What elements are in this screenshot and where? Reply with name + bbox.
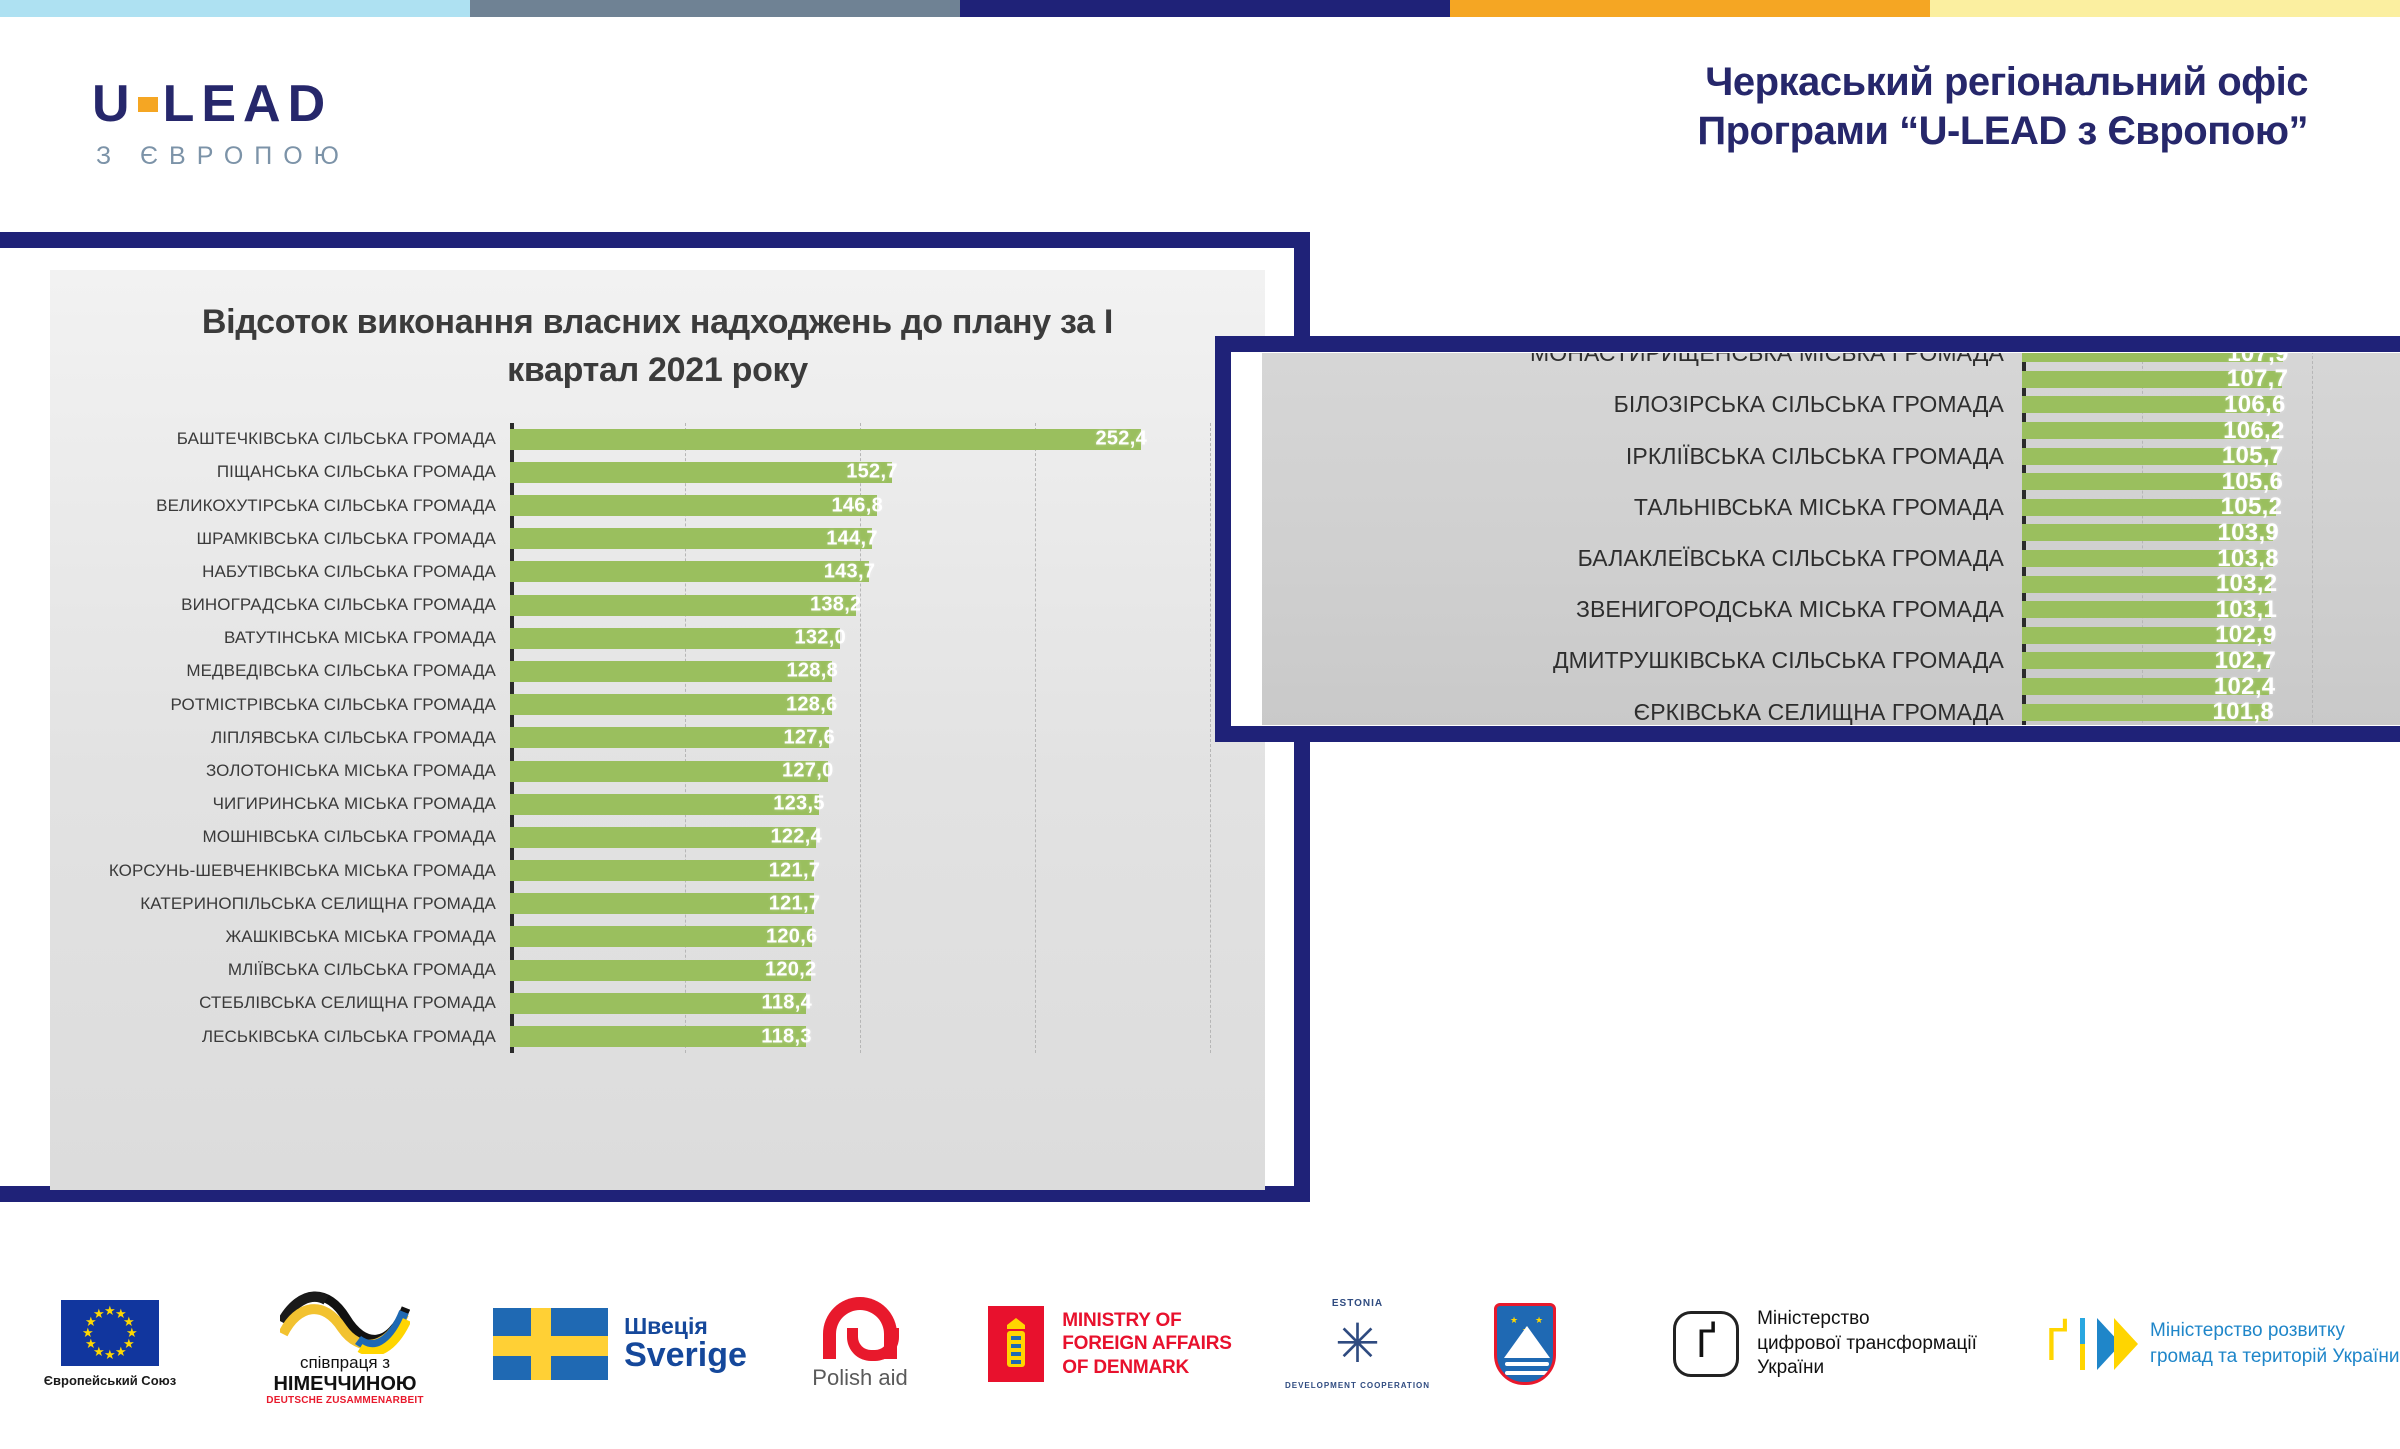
bar-category-label: МЛІЇВСЬКА СІЛЬСЬКА ГРОМАДА: [50, 960, 510, 980]
eu-flag-icon: ★★★★★★★★★★★★: [61, 1300, 159, 1366]
bar-category-label: ІРКЛІЇВСЬКА СІЛЬСЬКА ГРОМАДА: [1262, 443, 2022, 470]
bar-category-label: ШРАМКІВСЬКА СІЛЬСЬКА ГРОМАДА: [50, 529, 510, 549]
bar-value-label: 103,2: [2216, 570, 2278, 598]
bar-value-label: 128,8: [786, 660, 838, 683]
bar-track: 152,7: [510, 462, 1265, 483]
bar-track: 128,8: [510, 661, 1265, 682]
bar-track: 121,7: [510, 860, 1265, 881]
bar-track: 143,7: [510, 561, 1265, 582]
bar-track: 107,7: [2022, 371, 2400, 388]
bar-value-label: 144,7: [826, 527, 878, 550]
bar: 105,7: [2022, 448, 2277, 465]
bar-track: 105,7: [2022, 448, 2400, 465]
bar-category-label: МЕДВЕДІВСЬКА СІЛЬСЬКА ГРОМАДА: [50, 661, 510, 681]
chart-bar-row: ЖАШКІВСЬКА МІСЬКА ГРОМАДА120,6: [50, 920, 1265, 953]
bar-category-label: КОРСУНЬ-ШЕВЧЕНКІВСЬКА МІСЬКА ГРОМАДА: [50, 861, 510, 881]
bar: 102,9: [2022, 627, 2271, 644]
bar-category-label: КАТЕРИНОПІЛЬСЬКА СЕЛИЩНА ГРОМАДА: [50, 894, 510, 914]
top-color-strip: [0, 0, 2400, 17]
bar-track: 122,4: [510, 827, 1265, 848]
chart-bar-row: РОТМІСТРІВСЬКА СІЛЬСЬКА ГРОМАДА128,6: [50, 688, 1265, 721]
chart-bar-row: 103,2: [1262, 571, 2400, 597]
bar-category-label: БІЛОЗІРСЬКА СІЛЬСЬКА ГРОМАДА: [1262, 391, 2022, 418]
header-title-line2: Програми “U-LEAD з Європою”: [1697, 107, 2308, 156]
bar: 152,7: [510, 462, 892, 483]
bar-track: 138,2: [510, 595, 1265, 616]
segment-orange: [1450, 0, 1930, 17]
chart-bar-row: МОШНІВСЬКА СІЛЬСЬКА ГРОМАДА122,4: [50, 821, 1265, 854]
bar: 101,8: [2022, 704, 2268, 721]
chart-bar-row: ЗОЛОТОНІСЬКА МІСЬКА ГРОМАДА127,0: [50, 754, 1265, 787]
bar-value-label: 120,2: [765, 959, 817, 982]
bar-category-label: НАБУТІВСЬКА СІЛЬСЬКА ГРОМАДА: [50, 562, 510, 582]
chart-bar-row: ЄРКІВСЬКА СЕЛИЩНА ГРОМАДА101,8: [1262, 699, 2400, 725]
chart-bar-row: СТЕБЛІВСЬКА СЕЛИЩНА ГРОМАДА118,4: [50, 987, 1265, 1020]
bar-category-label: ЗОЛОТОНІСЬКА МІСЬКА ГРОМАДА: [50, 761, 510, 781]
chart-bar-row: КОРСУНЬ-ШЕВЧЕНКІВСЬКА МІСЬКА ГРОМАДА121,…: [50, 854, 1265, 887]
bar: 106,2: [2022, 422, 2279, 439]
chart-bar-row: ВИНОГРАДСЬКА СІЛЬСЬКА ГРОМАДА138,2: [50, 588, 1265, 621]
bar: 146,8: [510, 495, 877, 516]
mintrans-line3: України: [1757, 1356, 1977, 1381]
sweden-caption-sv: Sverige: [624, 1338, 747, 1374]
estonia-caption-top: ESTONIA: [1332, 1298, 1383, 1309]
bar-track: 118,3: [510, 1026, 1265, 1047]
bar-category-label: ЗВЕНИГОРОДСЬКА МІСЬКА ГРОМАДА: [1262, 596, 2022, 623]
germany-caption-line2: НІМЕЧЧИНОЮ: [273, 1373, 416, 1395]
chart-title: Відсоток виконання власних надходжень до…: [50, 270, 1265, 395]
bar-category-label: ВЕЛИКОХУТІРСЬКА СІЛЬСЬКА ГРОМАДА: [50, 496, 510, 516]
bar-value-label: 138,2: [810, 594, 862, 617]
bar-value-label: 103,8: [2217, 545, 2279, 573]
bar-track: 103,2: [2022, 576, 2400, 593]
logo-word-lead: LEAD: [163, 75, 333, 133]
overlay-plot-area: МОНАСТИРИЩЕНСЬКА МІСЬКА ГРОМАДА107,9107,…: [1262, 353, 2400, 725]
bar-category-label: РОТМІСТРІВСЬКА СІЛЬСЬКА ГРОМАДА: [50, 695, 510, 715]
chart-bar-row: МЕДВЕДІВСЬКА СІЛЬСЬКА ГРОМАДА128,8: [50, 655, 1265, 688]
chart-bar-row: 102,9: [1262, 623, 2400, 649]
sweden-flag-icon: [493, 1308, 608, 1380]
bar-value-label: 101,4: [2211, 724, 2273, 725]
denmark-caption-line3: OF DENMARK: [1062, 1356, 1231, 1379]
bar: 144,7: [510, 528, 872, 549]
bar-track: 144,7: [510, 528, 1265, 549]
bar: 121,7: [510, 893, 814, 914]
bar-track: 252,4: [510, 429, 1265, 450]
ukraine-trident-box-icon: Ґ: [1673, 1311, 1739, 1377]
bar-value-label: 132,0: [794, 627, 846, 650]
bar-category-label: СТЕБЛІВСЬКА СЕЛИЩНА ГРОМАДА: [50, 993, 510, 1013]
bar-track: 101,8: [2022, 704, 2400, 721]
bar-track: 103,9: [2022, 524, 2400, 541]
bar-track: 127,0: [510, 761, 1265, 782]
segment-lightblue: [0, 0, 470, 17]
bar-category-label: ТАЛЬНІВСЬКА МІСЬКА ГРОМАДА: [1262, 494, 2022, 521]
bar-track: 127,6: [510, 727, 1265, 748]
bar-value-label: 102,7: [2215, 647, 2277, 675]
bar-track: 118,4: [510, 993, 1265, 1014]
bar: 252,4: [510, 429, 1141, 450]
eu-caption: Європейський Союз: [44, 1373, 176, 1388]
bar-value-label: 106,6: [2224, 391, 2286, 419]
bar-track: 121,7: [510, 893, 1265, 914]
germany-caption-line3: DEUTSCHE ZUSAMMENARBEIT: [266, 1395, 423, 1406]
chart-bar-row: БАШТЕЧКІВСЬКА СІЛЬСЬКА ГРОМАДА252,4: [50, 423, 1265, 456]
chart-bar-row: МЛІЇВСЬКА СІЛЬСЬКА ГРОМАДА120,2: [50, 954, 1265, 987]
logo-ministry-digital-transformation: Ґ Міністерство цифрової трансформації Ук…: [1605, 1307, 2045, 1381]
germany-caption-line1: співпраця з: [300, 1354, 390, 1373]
bar-track: 128,6: [510, 694, 1265, 715]
estonia-star-icon: ✳: [1335, 1317, 1380, 1371]
bar-value-label: 127,0: [782, 760, 834, 783]
logo-slovenia: ★ ★ ★: [1445, 1303, 1605, 1385]
ulead-subtitle: З ЄВРОПОЮ: [96, 142, 350, 171]
bar: 120,2: [510, 960, 811, 981]
bar: 123,5: [510, 794, 819, 815]
bar: 107,7: [2022, 371, 2282, 388]
bar-value-label: 105,6: [2222, 468, 2284, 496]
trident-icon: Ґ: [1696, 1324, 1716, 1364]
ulead-logo: ULEAD З ЄВРОПОЮ: [92, 78, 350, 171]
chart-bar-row: ЛІПЛЯВСЬКА СІЛЬСЬКА ГРОМАДА127,6: [50, 721, 1265, 754]
sweden-caption-uk: Швеція: [624, 1314, 747, 1338]
eu-star-icon: ★: [93, 1307, 105, 1320]
bar-value-label: 146,8: [831, 494, 883, 517]
segment-slate: [470, 0, 960, 17]
bar-value-label: 107,7: [2227, 365, 2289, 393]
bar: 127,6: [510, 727, 829, 748]
bar-value-label: 102,9: [2215, 621, 2277, 649]
bar: 118,3: [510, 1026, 806, 1047]
bar-value-label: 118,3: [761, 1025, 811, 1048]
ulead-wordmark: ULEAD: [92, 78, 350, 130]
bar-category-label: ПІЩАНСЬКА СІЛЬСЬКА ГРОМАДА: [50, 462, 510, 482]
chart-bar-row: ШРАМКІВСЬКА СІЛЬСЬКА ГРОМАДА144,7: [50, 522, 1265, 555]
bar-track: 123,5: [510, 794, 1265, 815]
minregion-line1: Міністерство розвитку: [2150, 1318, 2399, 1344]
chart-bar-row: НАБУТІВСЬКА СІЛЬСЬКА ГРОМАДА143,7: [50, 555, 1265, 588]
minregion-line2: громад та територій України: [2150, 1344, 2399, 1370]
bar-track: 120,2: [510, 960, 1265, 981]
bar-track: 106,6: [2022, 396, 2400, 413]
chart-bar-row: 102,4: [1262, 674, 2400, 700]
bar-value-label: 127,6: [783, 726, 835, 749]
bar-value-label: 118,4: [762, 992, 812, 1015]
chart-bar-row: 106,2: [1262, 418, 2400, 444]
chart-plot-area: БАШТЕЧКІВСЬКА СІЛЬСЬКА ГРОМАДА252,4ПІЩАН…: [50, 423, 1265, 1054]
bar: 128,8: [510, 661, 832, 682]
chart-bar-row: ТАЛЬНІВСЬКА МІСЬКА ГРОМАДА105,2: [1262, 495, 2400, 521]
bar-track: 146,8: [510, 495, 1265, 516]
polish-aid-icon: [823, 1297, 897, 1359]
bar: 102,4: [2022, 678, 2269, 695]
bar-category-label: ДМИТРУШКІВСЬКА СІЛЬСЬКА ГРОМАДА: [1262, 647, 2022, 674]
estonia-icon: ESTONIA ✳ DEVELOPMENT COOPERATION: [1315, 1301, 1401, 1387]
bar-track: 107,9: [2022, 353, 2400, 362]
denmark-caption-line2: FOREIGN AFFAIRS: [1062, 1332, 1231, 1355]
bar-track: 106,2: [2022, 422, 2400, 439]
bar: 103,2: [2022, 576, 2271, 593]
polish-aid-caption: Polish aid: [812, 1365, 907, 1391]
bar-category-label: БАШТЕЧКІВСЬКА СІЛЬСЬКА ГРОМАДА: [50, 429, 510, 449]
slovenia-shield-icon: ★ ★ ★: [1494, 1303, 1556, 1385]
footer-logos: ★★★★★★★★★★★★ Європейський Союз співпраця…: [0, 1239, 2400, 1449]
denmark-crest-icon: [988, 1306, 1044, 1382]
bar-track: 102,4: [2022, 678, 2400, 695]
chart-bar-row: ЗВЕНИГОРОДСЬКА МІСЬКА ГРОМАДА103,1: [1262, 597, 2400, 623]
bar-value-label: 121,7: [769, 859, 821, 882]
bar-value-label: 103,9: [2218, 519, 2280, 547]
logo-germany: співпраця з НІМЕЧЧИНОЮ DEUTSCHE ZUSAMMEN…: [220, 1282, 470, 1406]
bar: 105,2: [2022, 499, 2276, 516]
bar: 103,9: [2022, 524, 2273, 541]
mintrans-line2: цифрової трансформації: [1757, 1332, 1977, 1357]
bar-value-label: 123,5: [773, 793, 825, 816]
bar-track: 105,6: [2022, 473, 2400, 490]
bar-category-label: ВАТУТІНСЬКА МІСЬКА ГРОМАДА: [50, 628, 510, 648]
bar: 106,6: [2022, 396, 2280, 413]
logo-polish-aid: Polish aid: [770, 1297, 950, 1391]
bar-value-label: 121,7: [769, 892, 821, 915]
bar-value-label: 128,6: [786, 693, 838, 716]
bar: 103,1: [2022, 601, 2271, 618]
chart-bar-row: ІРКЛІЇВСЬКА СІЛЬСЬКА ГРОМАДА105,7: [1262, 443, 2400, 469]
bar-track: 132,0: [510, 628, 1265, 649]
bar: 103,8: [2022, 550, 2273, 567]
bar-category-label: МОНАСТИРИЩЕНСЬКА МІСЬКА ГРОМАДА: [1262, 353, 2022, 367]
chart-bar-row: 105,6: [1262, 469, 2400, 495]
overlay-chart: МОНАСТИРИЩЕНСЬКА МІСЬКА ГРОМАДА107,9107,…: [1262, 353, 2400, 725]
bar: 105,6: [2022, 473, 2277, 490]
bar: 138,2: [510, 595, 856, 616]
bar-category-label: ЛЕСЬКІВСЬКА СІЛЬСЬКА ГРОМАДА: [50, 1027, 510, 1047]
bar-track: 103,8: [2022, 550, 2400, 567]
bar-track: 105,2: [2022, 499, 2400, 516]
segment-lightyellow: [1930, 0, 2400, 17]
header-title: Черкаський регіональний офіс Програми “U…: [1697, 58, 2308, 156]
bar: 143,7: [510, 561, 869, 582]
bar-value-label: 122,4: [770, 826, 822, 849]
bar-category-label: ЄРКІВСЬКА СЕЛИЩНА ГРОМАДА: [1262, 699, 2022, 725]
minregion-chevron-icon: [2097, 1318, 2138, 1370]
chart-bar-row: БАЛАКЛЕЇВСЬКА СІЛЬСЬКА ГРОМАДА103,8: [1262, 546, 2400, 572]
logo-ministry-regional-development: Ґ Міністерство розвитку громад та терито…: [2045, 1318, 2400, 1370]
chart-bar-row: ЛЕСЬКІВСЬКА СІЛЬСЬКА ГРОМАДА118,3: [50, 1020, 1265, 1053]
bar-value-label: 120,6: [766, 925, 818, 948]
bar-value-label: 101,8: [2212, 698, 2274, 725]
bar-category-label: ВИНОГРАДСЬКА СІЛЬСЬКА ГРОМАДА: [50, 595, 510, 615]
chart-bar-row: ВЕЛИКОХУТІРСЬКА СІЛЬСЬКА ГРОМАДА146,8: [50, 489, 1265, 522]
bar-track: 102,7: [2022, 652, 2400, 669]
bar-category-label: ЧИГИРИНСЬКА МІСЬКА ГРОМАДА: [50, 794, 510, 814]
logo-estonia: ESTONIA ✳ DEVELOPMENT COOPERATION: [1270, 1301, 1445, 1387]
bar-category-label: ЖАШКІВСЬКА МІСЬКА ГРОМАДА: [50, 927, 510, 947]
bar-value-label: 106,2: [2223, 417, 2285, 445]
bar: 102,7: [2022, 652, 2270, 669]
bar-value-label: 105,2: [2221, 493, 2283, 521]
bar-track: 102,9: [2022, 627, 2400, 644]
logo-sweden: Швеція Sverige: [470, 1308, 770, 1380]
bar: 121,7: [510, 860, 814, 881]
chart-bar-row: КАТЕРИНОПІЛЬСЬКА СЕЛИЩНА ГРОМАДА121,7: [50, 887, 1265, 920]
bar-value-label: 252,4: [1095, 428, 1147, 451]
eu-star-icon: ★: [104, 1304, 116, 1317]
mintrans-line1: Міністерство: [1757, 1307, 1977, 1332]
segment-navy: [960, 0, 1450, 17]
bar: 127,0: [510, 761, 828, 782]
germany-wave-icon: [280, 1282, 410, 1354]
bar: 132,0: [510, 628, 840, 649]
chart-bar-row: ВАТУТІНСЬКА МІСЬКА ГРОМАДА132,0: [50, 622, 1265, 655]
eu-star-icon: ★: [104, 1348, 116, 1361]
chart-bar-row: 107,7: [1262, 367, 2400, 393]
bar: 122,4: [510, 827, 816, 848]
bar-value-label: 105,7: [2222, 442, 2284, 470]
minregion-divider: [2080, 1318, 2085, 1370]
bar: 107,9: [2022, 353, 2283, 362]
chart-bar-row: БІЛОЗІРСЬКА СІЛЬСЬКА ГРОМАДА106,6: [1262, 392, 2400, 418]
estonia-caption-bottom: DEVELOPMENT COOPERATION: [1285, 1381, 1430, 1390]
bar: 120,6: [510, 926, 812, 947]
bar-track: 120,6: [510, 926, 1265, 947]
logo-denmark: MINISTRY OF FOREIGN AFFAIRS OF DENMARK: [950, 1306, 1270, 1382]
bar-value-label: 152,7: [846, 461, 898, 484]
bar-track: 103,1: [2022, 601, 2400, 618]
minregion-trident-icon: Ґ: [2046, 1321, 2068, 1367]
denmark-caption-line1: MINISTRY OF: [1062, 1309, 1231, 1332]
chart-bar-row: ДМИТРУШКІВСЬКА СІЛЬСЬКА ГРОМАДА102,7: [1262, 648, 2400, 674]
eu-star-icon: ★: [115, 1345, 127, 1358]
bar-category-label: БАЛАКЛЕЇВСЬКА СІЛЬСЬКА ГРОМАДА: [1262, 545, 2022, 572]
logo-letter-u: U: [92, 75, 137, 133]
bar-category-label: МОШНІВСЬКА СІЛЬСЬКА ГРОМАДА: [50, 827, 510, 847]
chart-bar-row: 103,9: [1262, 520, 2400, 546]
logo-european-union: ★★★★★★★★★★★★ Європейський Союз: [0, 1300, 220, 1388]
bar: 118,4: [510, 993, 806, 1014]
bar-value-label: 143,7: [824, 560, 876, 583]
bar-value-label: 102,4: [2214, 673, 2276, 701]
bar-value-label: 103,1: [2216, 596, 2278, 624]
header-title-line1: Черкаський регіональний офіс: [1697, 58, 2308, 107]
chart-bar-row: ПІЩАНСЬКА СІЛЬСЬКА ГРОМАДА152,7: [50, 456, 1265, 489]
main-chart: Відсоток виконання власних надходжень до…: [50, 270, 1265, 1190]
chart-bar-row: ЧИГИРИНСЬКА МІСЬКА ГРОМАДА123,5: [50, 788, 1265, 821]
logo-dash-icon: [138, 97, 158, 112]
bar-category-label: ЛІПЛЯВСЬКА СІЛЬСЬКА ГРОМАДА: [50, 728, 510, 748]
bar: 128,6: [510, 694, 832, 715]
